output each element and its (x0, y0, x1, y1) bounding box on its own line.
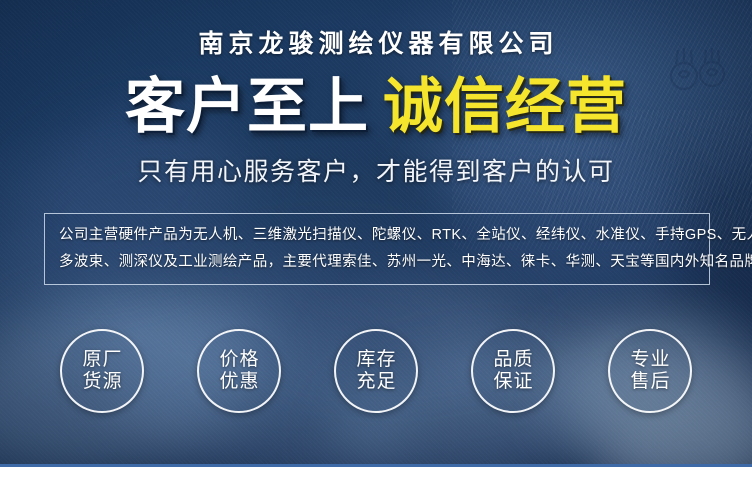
feature-badge: 价格 优惠 (197, 329, 281, 413)
description-box: 公司主营硬件产品为无人机、三维激光扫描仪、陀螺仪、RTK、全站仪、经纬仪、水准仪… (44, 213, 710, 285)
company-name: 南京龙骏测绘仪器有限公司 (0, 24, 752, 60)
feature-badge: 库存 充足 (334, 329, 418, 413)
feature-badge-line-2: 优惠 (218, 371, 259, 393)
subtitle-slogan: 只有用心服务客户，才能得到客户的认可 (0, 152, 752, 188)
bottom-white-strip (0, 467, 752, 480)
description-line-2: 多波束、测深仪及工业测绘产品，主要代理索佳、苏州一光、中海达、徕卡、华测、天宝等… (59, 249, 695, 276)
feature-badge-line-1: 价格 (218, 349, 259, 371)
feature-badge-list: 原厂 货源 价格 优惠 库存 充足 品质 保证 专业 售后 (60, 328, 692, 414)
feature-badge-line-2: 货源 (81, 371, 122, 393)
feature-badge-line-2: 售后 (629, 371, 670, 393)
headline-accent: 诚信经营 (383, 73, 627, 140)
headline-primary: 客户至上 (125, 73, 369, 140)
feature-badge: 专业 售后 (608, 329, 692, 413)
feature-badge-line-1: 专业 (629, 349, 670, 371)
promo-banner: 南京龙骏测绘仪器有限公司 客户至上诚信经营 只有用心服务客户，才能得到客户的认可… (0, 0, 752, 480)
headline: 客户至上诚信经营 (0, 74, 752, 140)
feature-badge: 品质 保证 (471, 329, 555, 413)
feature-badge-line-1: 原厂 (81, 349, 122, 371)
feature-badge-line-2: 充足 (355, 371, 396, 393)
feature-badge-line-2: 保证 (492, 371, 533, 393)
description-line-1: 公司主营硬件产品为无人机、三维激光扫描仪、陀螺仪、RTK、全站仪、经纬仪、水准仪… (59, 222, 695, 249)
feature-badge: 原厂 货源 (60, 329, 144, 413)
feature-badge-line-1: 品质 (492, 349, 533, 371)
banner-content: 南京龙骏测绘仪器有限公司 客户至上诚信经营 只有用心服务客户，才能得到客户的认可… (0, 0, 752, 468)
feature-badge-line-1: 库存 (355, 349, 396, 371)
